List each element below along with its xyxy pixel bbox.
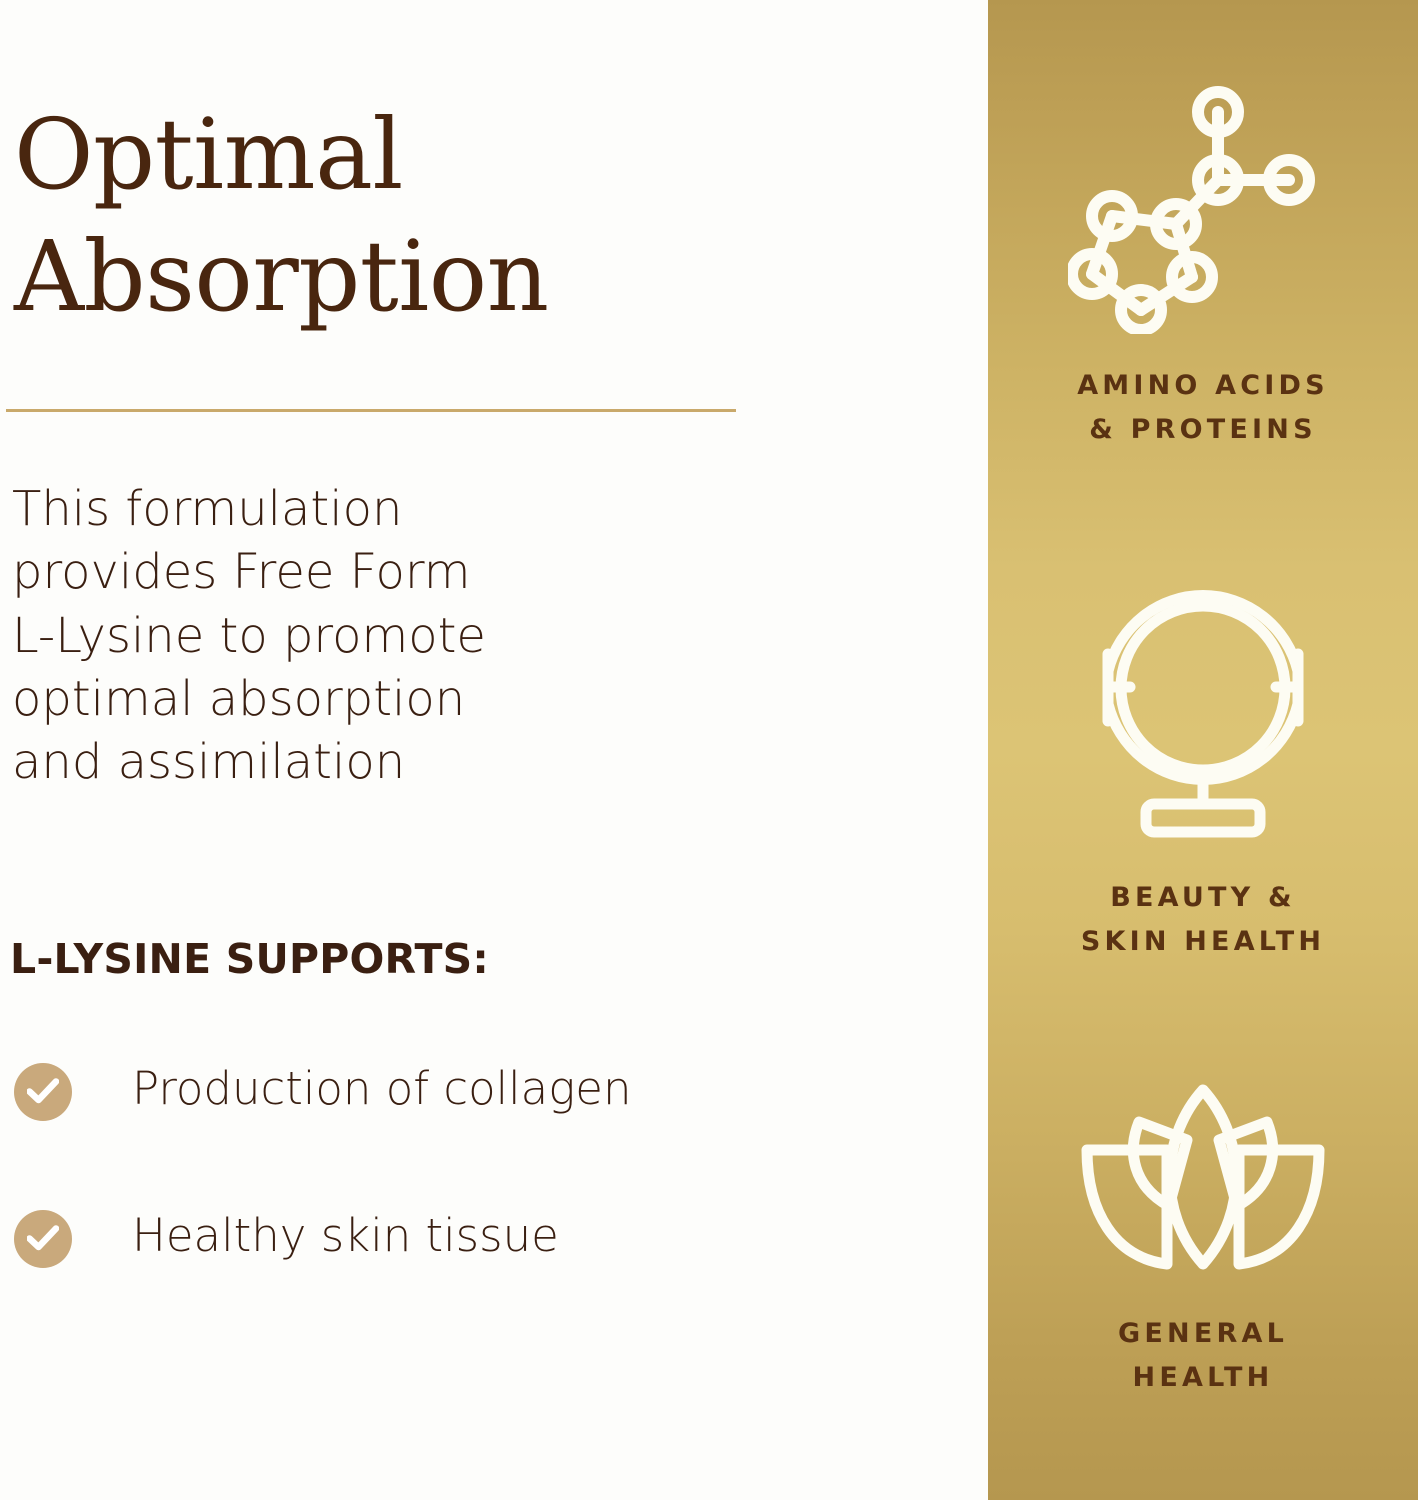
sidebar-feature-beauty-skin: BEAUTY & SKIN HEALTH <box>988 576 1418 963</box>
mirror-icon <box>988 576 1418 850</box>
sidebar-feature-label-line-1: AMINO ACIDS <box>988 364 1418 408</box>
page-title-line-1: Optimal <box>14 94 914 216</box>
list-item: Healthy skin tissue <box>10 1207 910 1271</box>
left-content-column: Optimal Absorption This formulation prov… <box>0 0 988 1500</box>
product-benefits-panel: Optimal Absorption This formulation prov… <box>0 0 1418 1500</box>
body-line-3: L-Lysine to promote <box>12 605 652 668</box>
body-line-5: and assimilation <box>12 731 652 794</box>
title-divider-rule <box>6 409 736 412</box>
supports-list: Production of collagen Healthy skin tiss… <box>10 1060 910 1354</box>
sidebar-feature-label: GENERAL HEALTH <box>988 1312 1418 1399</box>
sidebar-feature-label-line-1: GENERAL <box>988 1312 1418 1356</box>
sidebar-feature-general-health: GENERAL HEALTH <box>988 1082 1418 1399</box>
page-title: Optimal Absorption <box>14 94 914 338</box>
body-paragraph: This formulation provides Free Form L-Ly… <box>12 478 652 795</box>
page-title-line-2: Absorption <box>14 216 914 338</box>
sidebar-feature-label: AMINO ACIDS & PROTEINS <box>988 364 1418 451</box>
lotus-flower-icon <box>988 1082 1418 1286</box>
sidebar-feature-label: BEAUTY & SKIN HEALTH <box>988 876 1418 963</box>
list-item: Production of collagen <box>10 1060 910 1124</box>
sidebar-feature-label-line-2: & PROTEINS <box>988 408 1418 452</box>
sidebar-feature-label-line-1: BEAUTY & <box>988 876 1418 920</box>
supports-heading: L-LYSINE SUPPORTS: <box>10 935 489 983</box>
benefits-sidebar: AMINO ACIDS & PROTEINS <box>988 0 1418 1500</box>
check-icon <box>14 1210 72 1268</box>
list-item-label: Healthy skin tissue <box>132 1203 559 1268</box>
body-line-4: optimal absorption <box>12 668 652 731</box>
sidebar-feature-label-line-2: HEALTH <box>988 1356 1418 1400</box>
molecule-icon <box>988 72 1418 338</box>
sidebar-feature-amino-acids: AMINO ACIDS & PROTEINS <box>988 72 1418 451</box>
sidebar-feature-label-line-2: SKIN HEALTH <box>988 920 1418 964</box>
list-item-label: Production of collagen <box>132 1056 631 1121</box>
body-line-1: This formulation <box>12 478 652 541</box>
body-line-2: provides Free Form <box>12 541 652 604</box>
check-icon <box>14 1063 72 1121</box>
